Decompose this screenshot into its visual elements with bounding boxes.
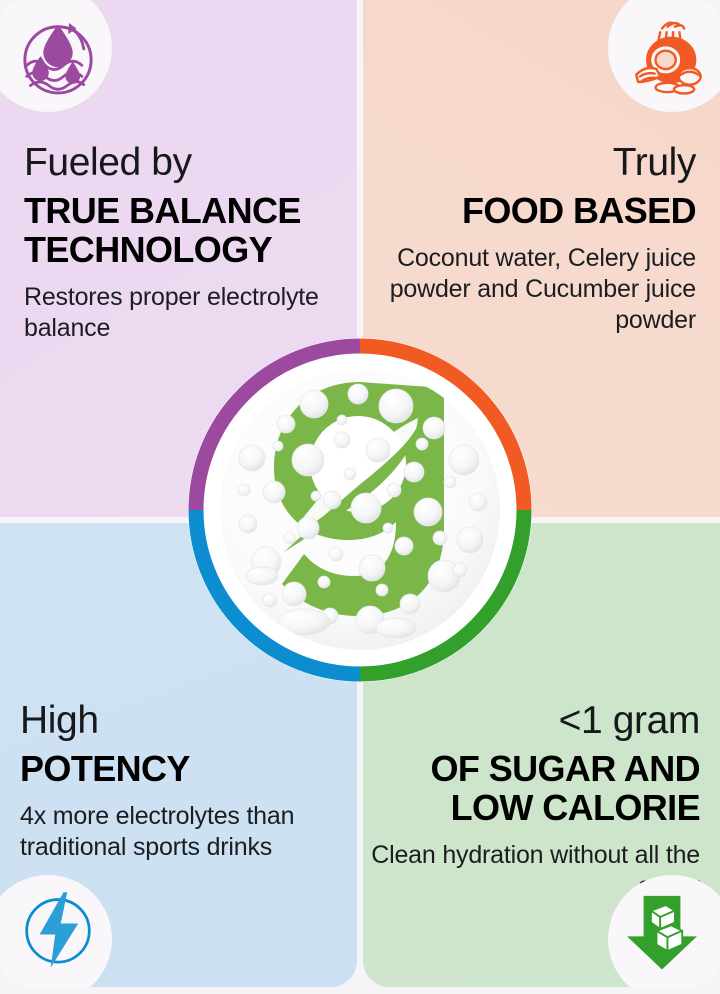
text-block-low-sugar-low-calorie: <1 gram OF SUGAR AND LOW CALORIE Clean h… — [370, 700, 700, 902]
lightning-bolt-icon — [0, 875, 112, 987]
headline-bold-br: OF SUGAR AND LOW CALORIE — [370, 750, 700, 828]
text-block-food-based: Truly FOOD BASED Coconut water, Celery j… — [376, 142, 696, 337]
text-block-true-balance-technology: Fueled by TRUE BALANCE TECHNOLOGY Restor… — [24, 142, 344, 344]
headline-light-tl: Fueled by — [24, 142, 344, 184]
headline-light-tr: Truly — [376, 142, 696, 184]
body-text-bl: 4x more electrolytes than traditional sp… — [20, 801, 350, 864]
water-drop-waves-icon — [0, 0, 112, 112]
text-block-high-potency: High POTENCY 4x more electrolytes than t… — [20, 700, 350, 863]
headline-light-bl: High — [20, 700, 350, 742]
brand-emblem — [182, 332, 538, 688]
headline-bold-tl: TRUE BALANCE TECHNOLOGY — [24, 192, 344, 270]
sugar-cubes-down-arrow-icon — [608, 875, 720, 987]
body-text-tr: Coconut water, Celery juice powder and C… — [376, 243, 696, 337]
benefits-infographic: Fueled by TRUE BALANCE TECHNOLOGY Restor… — [0, 0, 720, 994]
headline-light-br: <1 gram — [370, 700, 700, 742]
headline-bold-bl: POTENCY — [20, 750, 350, 789]
headline-bold-tr: FOOD BASED — [376, 192, 696, 231]
coconut-celery-cucumber-icon — [608, 0, 720, 112]
